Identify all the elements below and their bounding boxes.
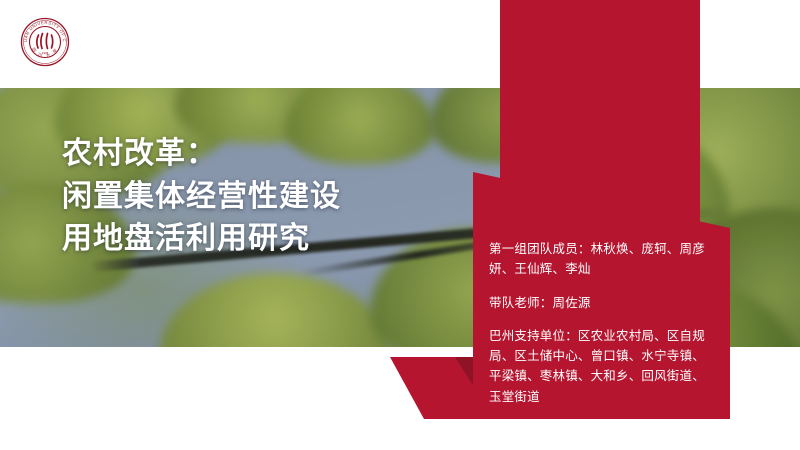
title-slide: SICHUAN UNIVERSITY OF CHINA 四 川 大 学 1905 — [0, 0, 800, 450]
page-title: 农村改革： 闲置集体经营性建设 用地盘活利用研究 — [62, 133, 462, 261]
supporting-units-text: 巴州支持单位：区农业农村局、区自规局、区土储中心、曾口镇、水宁寺镇、平梁镇、枣林… — [489, 326, 707, 407]
svg-text:1905: 1905 — [42, 51, 49, 55]
red-arrow-wedge — [390, 357, 490, 419]
team-members-text: 第一组团队成员：林秋焕、庞轲、周彦妍、王仙辉、李灿 — [489, 239, 707, 280]
university-seal-logo: SICHUAN UNIVERSITY OF CHINA 四 川 大 学 1905 — [20, 17, 70, 67]
red-arrow-wedge-shadow — [455, 357, 490, 412]
credits-block: 第一组团队成员：林秋焕、庞轲、周彦妍、王仙辉、李灿 带队老师：周佐源 巴州支持单… — [489, 239, 707, 407]
advisor-text: 带队老师：周佐源 — [489, 293, 707, 313]
title-line-1: 农村改革： — [62, 133, 462, 176]
title-line-2: 闲置集体经营性建设 — [62, 176, 462, 219]
title-line-3: 用地盘活利用研究 — [62, 218, 462, 261]
